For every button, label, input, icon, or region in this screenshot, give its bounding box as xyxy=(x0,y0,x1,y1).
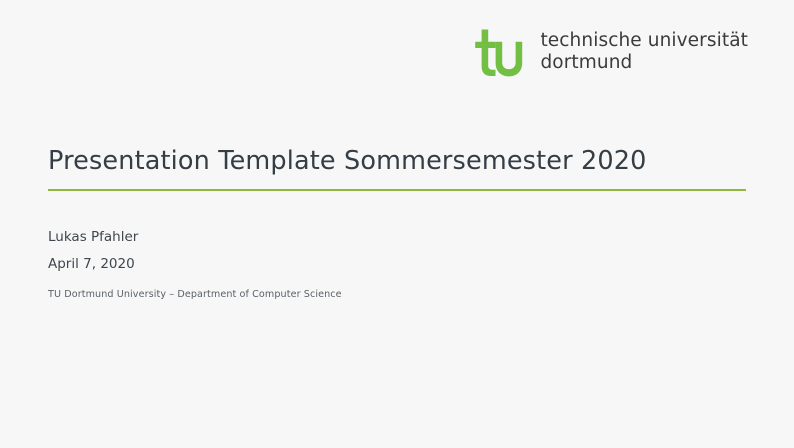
title-meta-block: Lukas Pfahler April 7, 2020 TU Dortmund … xyxy=(48,231,342,300)
affiliation-text: TU Dortmund University – Department of C… xyxy=(48,289,342,300)
tu-logo-mark-icon xyxy=(468,27,526,77)
title-slide: technische universität dortmund Presenta… xyxy=(0,0,794,448)
wordmark-line-2: dortmund xyxy=(540,52,748,74)
presentation-date: April 7, 2020 xyxy=(48,258,342,272)
page-title: Presentation Template Sommersemester 202… xyxy=(48,146,646,176)
accent-divider xyxy=(48,189,746,191)
tu-logo-wordmark: technische universität dortmund xyxy=(540,30,748,74)
author-name: Lukas Pfahler xyxy=(48,231,342,245)
wordmark-line-1: technische universität xyxy=(540,30,748,52)
tu-dortmund-logo: technische universität dortmund xyxy=(468,27,748,77)
